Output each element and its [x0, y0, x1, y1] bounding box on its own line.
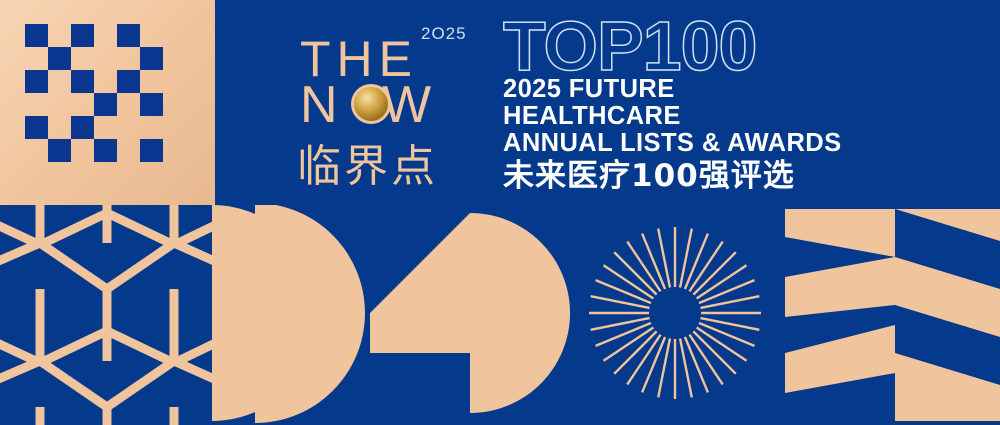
checker-cell: [117, 24, 140, 47]
starburst-ray: [614, 252, 656, 294]
checkerboard-block: [0, 0, 215, 205]
checker-cell: [117, 116, 140, 139]
circle-shapes-group: [180, 205, 580, 425]
checker-cell: [25, 162, 48, 185]
checker-cell: [140, 116, 163, 139]
checker-cell: [71, 93, 94, 116]
checker-cell: [94, 24, 117, 47]
checker-cell: [117, 162, 140, 185]
checker-cell: [163, 70, 186, 93]
checker-cell: [71, 24, 94, 47]
subtitle-en-line2: ANNUAL LISTS & AWARDS: [503, 130, 843, 157]
circle-shapes-svg: [180, 205, 580, 425]
page-title: TOP100: [503, 16, 843, 76]
checker-cell: [48, 139, 71, 162]
checker-cell: [48, 162, 71, 185]
logo-chinese-text: 临界点: [297, 130, 438, 194]
checker-cell: [25, 24, 48, 47]
checker-cell: [48, 47, 71, 70]
checker-cell: [25, 139, 48, 162]
checker-cell: [71, 70, 94, 93]
starburst-rays: [580, 205, 780, 425]
gold-sphere-icon: [351, 84, 391, 124]
checker-cell: [25, 70, 48, 93]
checker-cell: [94, 93, 117, 116]
checker-cell: [71, 139, 94, 162]
banner-canvas: THE 2O25 NOW 临界点 TOP100 2025 FUTURE HEAL…: [0, 0, 1000, 425]
checker-cell: [71, 162, 94, 185]
checker-cell: [25, 47, 48, 70]
diagonal-stripes-panel: [780, 205, 1000, 425]
checker-cell: [71, 47, 94, 70]
subtitle-en-line1: 2025 FUTURE HEALTHCARE: [503, 76, 843, 130]
starburst-svg: [580, 205, 780, 425]
checker-cell: [140, 93, 163, 116]
checker-cell: [94, 162, 117, 185]
checker-cell: [163, 47, 186, 70]
checker-cell: [163, 93, 186, 116]
subtitle-cn: 未来医疗100强评选: [503, 158, 843, 195]
checker-cell: [117, 93, 140, 116]
checker-cell: [25, 93, 48, 116]
checker-cell: [140, 24, 163, 47]
checker-cell: [163, 139, 186, 162]
starburst-ray: [693, 252, 735, 294]
checker-cell: [25, 116, 48, 139]
checker-cell: [94, 47, 117, 70]
checker-cell: [71, 116, 94, 139]
checker-cell: [163, 24, 186, 47]
stripes-right-half: [895, 209, 1000, 421]
checker-cell: [94, 70, 117, 93]
logo-year-mark: 2O25: [421, 24, 467, 44]
diagonal-stripes-svg: [780, 205, 1000, 425]
logo-lockup: THE 2O25 NOW 临界点: [295, 18, 485, 188]
checker-cell: [48, 93, 71, 116]
circle-with-notch: [370, 213, 570, 413]
starburst-ray: [693, 331, 735, 373]
logo-now-letter-n: N: [300, 76, 340, 134]
half-circle-d-shape: [255, 205, 365, 423]
checker-cell: [117, 139, 140, 162]
checker-cell: [140, 162, 163, 185]
checker-cell: [94, 116, 117, 139]
checkerboard-pattern: [25, 24, 186, 185]
checker-cell: [48, 24, 71, 47]
checker-cell: [140, 139, 163, 162]
checker-cell: [94, 139, 117, 162]
starburst-ray: [614, 331, 656, 373]
checker-cell: [48, 116, 71, 139]
checker-cell: [163, 116, 186, 139]
headline-block: TOP100 2025 FUTURE HEALTHCARE ANNUAL LIS…: [503, 16, 843, 196]
checker-cell: [163, 162, 186, 185]
checker-cell: [117, 70, 140, 93]
checker-cell: [48, 70, 71, 93]
stripes-left-half: [785, 209, 895, 393]
checker-cell: [140, 70, 163, 93]
checker-cell: [117, 47, 140, 70]
checker-cell: [140, 47, 163, 70]
